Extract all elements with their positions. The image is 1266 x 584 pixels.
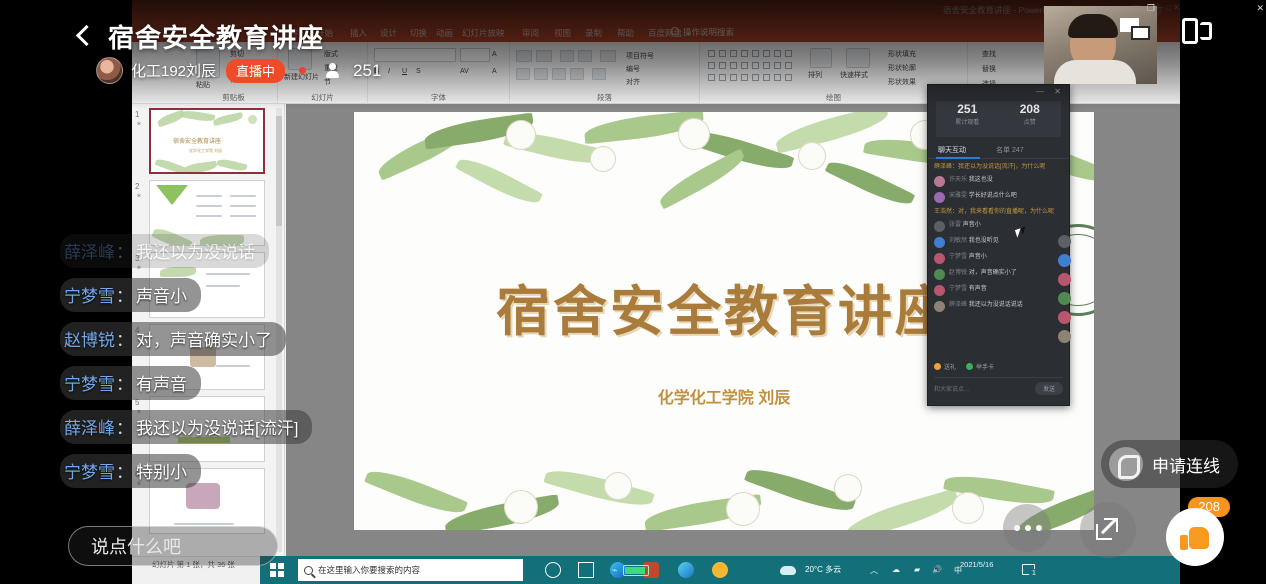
chat-message: 刘敏然 我也没听见	[934, 237, 1065, 248]
chat-text: 声音小	[136, 282, 187, 307]
viewer-count: 251	[353, 61, 381, 81]
ppt-menu-item-7[interactable]: 审阅	[522, 27, 539, 39]
chat-message-name: 宁梦雪	[949, 254, 967, 260]
system-notice: 薛泽峰：我还以为没说话[流汗]，为什么呢	[934, 163, 1065, 171]
float-panel-message-list[interactable]: 薛泽峰：我还以为没说话[流汗]，为什么呢 许天乐 我这也没 宋雅雯 学长好说点什…	[934, 163, 1065, 353]
back-button[interactable]	[74, 22, 96, 52]
browser-taskbar-icon[interactable]	[678, 562, 694, 578]
comment-input-placeholder: 说点什么吧	[91, 533, 181, 559]
tray-onedrive-icon[interactable]: ☁	[892, 565, 900, 574]
ribbon-group-label-paragraph: 段落	[510, 92, 699, 103]
ribbon-item-shape-effects[interactable]: 形状效果	[888, 77, 916, 87]
stat-viewers-value: 251	[936, 101, 999, 117]
font-family-select[interactable]	[374, 48, 456, 62]
avatar	[934, 237, 945, 248]
char-spacing-button[interactable]: AV	[460, 68, 469, 75]
chat-colon: ：	[116, 370, 133, 395]
align-center-icon[interactable]	[534, 68, 548, 80]
line-spacing-icon[interactable]	[600, 50, 616, 62]
columns-icon[interactable]	[592, 68, 606, 80]
ribbon-group-font: A B I U S AV A 字体	[368, 42, 510, 104]
live-app-taskbar-icon[interactable]	[712, 562, 728, 578]
quick-styles-icon[interactable]	[846, 48, 870, 68]
share-button[interactable]	[1080, 502, 1136, 558]
ppt-window-controls[interactable]: — □ ✕	[1156, 3, 1180, 12]
thumbnail-star-icon: ✶	[136, 120, 142, 128]
float-panel-input-row[interactable]: 和大家说点... 发送	[934, 377, 1063, 399]
float-panel-input-placeholder: 和大家说点...	[934, 384, 969, 393]
switch-view-icon[interactable]	[1120, 18, 1152, 42]
stat-likes-caption: 点赞	[999, 117, 1062, 126]
chat-overlay-list[interactable]: 薛泽峰 ： 我还以为没说话 宁梦雪 ： 声音小 赵博锐 ： 对，声音确实小了 宁…	[60, 234, 420, 498]
chat-message: 张雷 声音小	[934, 221, 1065, 232]
ppt-tell-me-search[interactable]: 操作说明搜索	[683, 26, 734, 38]
chat-message-name: 薛泽峰	[949, 302, 967, 308]
chip-raise-hand[interactable]: 举手卡	[966, 362, 994, 371]
ppt-menu-item-4[interactable]: 切换	[410, 27, 427, 39]
shadow-button[interactable]: S	[416, 68, 421, 75]
thumbnail-star-icon: ✶	[136, 192, 142, 200]
screen-stage: 宿舍安全教育讲座 - PowerPoint 刘辰 — □ ✕ 文件 开始 插入 …	[0, 0, 1266, 584]
avatar	[934, 301, 945, 312]
chat-message: 薛泽峰 我还以为没说话说话	[934, 301, 1065, 312]
thumbnail-number: 1	[135, 110, 139, 119]
pip-restore-icon[interactable]: ❐	[1147, 3, 1155, 14]
request-connect-label: 申请连线	[1152, 452, 1220, 477]
taskbar-clock[interactable]: 2021/5/16	[960, 560, 993, 570]
chat-text: 我还以为没说话[流汗]	[136, 414, 298, 439]
chat-text: 我还以为没说话	[136, 238, 255, 263]
chat-colon: ：	[116, 282, 133, 307]
chat-message: 赵博锐 对，声音确实小了	[934, 269, 1065, 280]
more-options-button[interactable]	[1003, 504, 1051, 552]
chat-message-text: 我还以为没说话说话	[969, 302, 1023, 308]
thumbnail-preview[interactable]: 宿舍安全教育讲座 化学化工学院 刘辰	[149, 108, 265, 174]
float-panel-action-chips: 送礼 举手卡	[934, 362, 994, 371]
ppt-menu-item-8[interactable]: 视图	[554, 27, 571, 39]
chip-gift[interactable]: 送礼	[934, 362, 956, 371]
chat-sender: 赵博锐	[64, 326, 115, 351]
ppt-menu-item-10[interactable]: 帮助	[617, 27, 634, 39]
float-panel-stats: 251 累计观看 208 点赞	[936, 101, 1061, 137]
float-panel-window-controls[interactable]: — ✕	[1036, 87, 1065, 96]
chat-message-text: 学长好说点什么吧	[969, 193, 1017, 199]
thumbs-up-icon	[1180, 522, 1210, 552]
ribbon-item-shape-fill[interactable]: 形状填充	[888, 49, 916, 59]
chat-message-text: 声音小	[969, 254, 987, 260]
thumbnail-number: 2	[135, 182, 139, 191]
tell-me-bulb-icon	[671, 27, 679, 35]
stat-likes-value: 208	[999, 101, 1062, 117]
avatar	[934, 176, 945, 187]
battery-indicator[interactable]	[623, 565, 649, 576]
host-name: 化工192刘辰	[131, 60, 216, 81]
ribbon-group-label-font: 字体	[368, 92, 509, 103]
thumbnail-subtitle: 化学化工学院 刘辰	[189, 148, 222, 154]
ribbon-item-align-text[interactable]: 编号	[626, 64, 640, 74]
chat-message-name: 许天乐	[949, 177, 967, 183]
request-connect-button[interactable]: 申请连线	[1101, 440, 1238, 488]
power-plug-icon: ⌁	[612, 565, 617, 576]
chat-bubble: 薛泽峰 ： 我还以为没说话	[60, 234, 269, 268]
font-grow-icon[interactable]: A	[492, 51, 497, 58]
system-notice: 王浩然：对，我来看看你的直播呢，为什么呢	[934, 208, 1065, 216]
video-body	[1054, 60, 1136, 84]
avatar	[934, 192, 945, 203]
panel-avatar-strip	[1058, 235, 1082, 349]
share-icon	[1096, 518, 1118, 540]
floating-chat-panel[interactable]: — ✕ 251 累计观看 208 点赞 聊天互动 名单 247 薛泽峰：我还以为…	[927, 84, 1070, 406]
chat-sender: 宁梦雪	[64, 370, 115, 395]
pip-close-icon[interactable]: ✕	[1256, 3, 1264, 14]
underline-button[interactable]: U	[402, 68, 407, 75]
live-status-badge: 直播中	[226, 59, 285, 83]
avatar	[934, 221, 945, 232]
chat-colon: ：	[116, 238, 133, 263]
font-size-select[interactable]	[460, 48, 490, 62]
chip-gift-label: 送礼	[944, 362, 956, 371]
letterbox-right	[1180, 0, 1266, 584]
like-button[interactable]	[1166, 508, 1224, 566]
chat-message: 许天乐 我这也没	[934, 176, 1065, 187]
tray-volume-icon[interactable]: 🔊	[932, 565, 942, 574]
cortana-icon[interactable]	[545, 562, 561, 578]
chat-message: 宁梦雪 有声音	[934, 285, 1065, 296]
tab-roster[interactable]: 名单 247	[996, 145, 1024, 155]
chip-raise-hand-label: 举手卡	[976, 362, 994, 371]
ribbon-item-replace[interactable]: 替换	[982, 64, 996, 74]
stat-viewers-caption: 累计观看	[936, 117, 999, 126]
gift-icon	[934, 363, 941, 370]
ribbon-item-shape-outline[interactable]: 形状轮廓	[888, 63, 916, 73]
taskbar-search-placeholder: 在这里输入你要搜索的内容	[318, 564, 420, 576]
italic-button[interactable]: I	[388, 68, 390, 75]
ribbon-item-arrange[interactable]: 排列	[808, 70, 822, 80]
chat-message-name: 赵博锐	[949, 270, 967, 276]
chat-message-text: 对，声音确实小了	[969, 270, 1017, 276]
ribbon-item-find[interactable]: 查找	[982, 49, 996, 59]
ribbon-item-quick-styles[interactable]: 快速样式	[840, 70, 868, 80]
host-info-row: 化工192刘辰 直播中 251	[96, 57, 381, 84]
viewer-person-icon	[326, 63, 339, 78]
chat-colon: ：	[116, 414, 133, 439]
notification-center-icon[interactable]: 1	[1022, 564, 1035, 575]
ribbon-group-label-clipboard: 剪贴板	[190, 92, 277, 103]
align-right-icon[interactable]	[552, 68, 566, 80]
chat-bubble: 宁梦雪 ： 特别小	[60, 454, 201, 488]
stat-viewers: 251 累计观看	[936, 101, 999, 137]
chat-bubble: 宁梦雪 ： 声音小	[60, 278, 201, 312]
align-left-icon[interactable]	[516, 68, 530, 80]
chat-message-text: 有声音	[969, 286, 987, 292]
chat-message-name: 张雷	[949, 222, 961, 228]
ribbon-item-text-direction[interactable]: 项目符号	[626, 51, 654, 61]
windows-taskbar: 在这里输入你要搜索的内容 ⌁ 20°C 多云 ︿ ☁ ▰ 🔊 中 2021/5/…	[260, 556, 1182, 584]
avatar	[934, 269, 945, 280]
taskbar-search-box[interactable]: 在这里输入你要搜索的内容	[298, 559, 523, 581]
avatar	[934, 253, 945, 264]
link-icon	[1109, 447, 1143, 481]
weather-cloud-icon	[780, 566, 796, 575]
chat-message-text: 我也没听见	[969, 238, 999, 244]
ppt-menu-item-6[interactable]: 幻灯片放映	[462, 27, 505, 39]
more-dots-icon	[1014, 525, 1042, 531]
stat-likes: 208 点赞	[999, 101, 1062, 137]
numbering-icon[interactable]	[536, 50, 552, 62]
chat-bubble: 赵博锐 ： 对，声音确实小了	[60, 322, 286, 356]
arrange-icon[interactable]	[810, 48, 832, 68]
search-icon	[304, 566, 313, 575]
chat-sender: 薛泽峰	[64, 238, 115, 263]
ppt-menu-item-5[interactable]: 动画	[436, 27, 453, 39]
chat-text: 对，声音确实小了	[136, 326, 272, 351]
chat-message-name: 宁梦雪	[949, 286, 967, 292]
chat-message-text: 声音小	[963, 222, 981, 228]
comment-input[interactable]: 说点什么吧	[68, 526, 278, 566]
notification-count-badge: 1	[1029, 569, 1039, 579]
bullets-icon[interactable]	[516, 50, 532, 62]
increase-indent-icon[interactable]	[578, 50, 592, 62]
taskbar-weather[interactable]: 20°C 多云	[805, 564, 841, 575]
chat-sender: 宁梦雪	[64, 458, 115, 483]
float-panel-tabs: 聊天互动 名单 247	[928, 142, 1069, 159]
chat-text: 有声音	[136, 370, 187, 395]
task-view-icon[interactable]	[578, 562, 594, 578]
chat-message-text: 我这也没	[969, 177, 993, 183]
chat-colon: ：	[116, 458, 133, 483]
room-title: 宿舍安全教育讲座	[108, 18, 324, 55]
ribbon-group-paragraph: 项目符号 编号 对齐 段落	[510, 42, 700, 104]
chat-text: 特别小	[136, 458, 187, 483]
avatar	[934, 285, 945, 296]
hand-icon	[966, 363, 973, 370]
chat-message: 宁梦雪 声音小	[934, 253, 1065, 264]
chat-message-name: 宋雅雯	[949, 193, 967, 199]
tray-expand-icon[interactable]: ︿	[870, 565, 878, 576]
recording-dot-icon	[299, 67, 306, 74]
ppt-menu-item-9[interactable]: 录制	[585, 27, 602, 39]
start-button[interactable]	[270, 563, 284, 577]
chat-bubble: 宁梦雪 ： 有声音	[60, 366, 201, 400]
ppt-menu-item-3[interactable]: 设计	[380, 27, 397, 39]
decrease-indent-icon[interactable]	[560, 50, 574, 62]
chat-sender: 薛泽峰	[64, 414, 115, 439]
ribbon-group-label-slides: 幻灯片	[278, 92, 367, 103]
chat-message-name: 刘敏然	[949, 238, 967, 244]
screen-cast-icon[interactable]	[1182, 18, 1212, 44]
chat-bubble: 薛泽峰 ： 我还以为没说话[流汗]	[60, 410, 312, 444]
tray-network-icon[interactable]: ▰	[914, 565, 920, 574]
chat-colon: ：	[116, 326, 133, 351]
justify-icon[interactable]	[570, 68, 584, 80]
host-avatar[interactable]	[96, 57, 123, 84]
ppt-menu-item-2[interactable]: 插入	[350, 27, 367, 39]
chat-sender: 宁梦雪	[64, 282, 115, 307]
float-panel-send-button[interactable]: 发送	[1035, 382, 1063, 395]
ribbon-item-smartart[interactable]: 对齐	[626, 77, 640, 87]
shape-gallery[interactable]	[706, 48, 794, 84]
tab-chat[interactable]: 聊天互动	[938, 145, 966, 155]
font-color-button[interactable]: A	[492, 68, 497, 75]
video-hair	[1068, 14, 1118, 38]
thumbnail-title: 宿舍安全教育讲座	[173, 136, 221, 145]
chat-message: 宋雅雯 学长好说点什么吧	[934, 192, 1065, 203]
